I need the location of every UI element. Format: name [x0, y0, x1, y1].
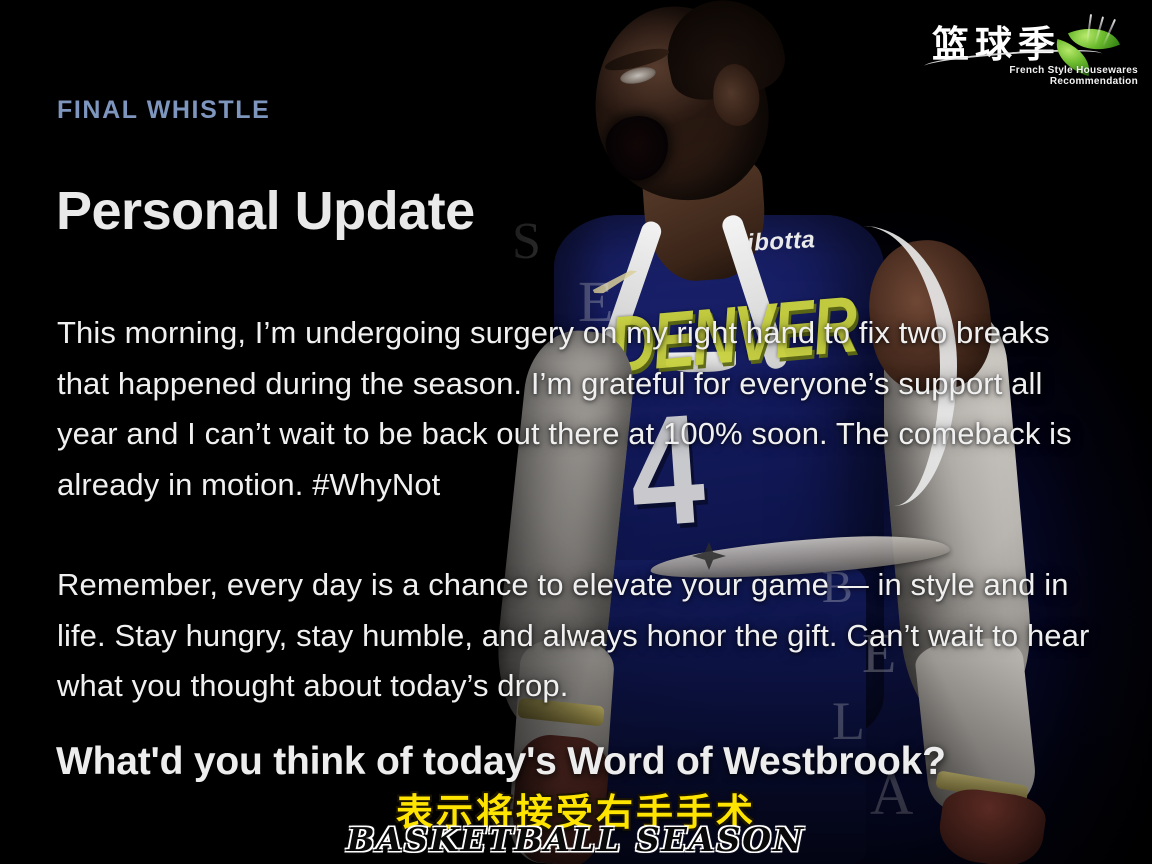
channel-watermark: BASKETBALL SEASON: [0, 820, 1152, 859]
page-title: Personal Update: [56, 180, 475, 242]
post-body: This morning, I’m undergoing surgery on …: [57, 277, 1102, 743]
brand-tagline-line1: French Style Housewares: [922, 65, 1138, 76]
cta-question: What'd you think of today's Word of West…: [56, 740, 946, 784]
brand-logo: 篮球季 French Style Housewares Recommendati…: [922, 8, 1138, 86]
post-paragraph-1: This morning, I’m undergoing surgery on …: [57, 308, 1102, 510]
kicker-label: FINAL WHISTLE: [57, 96, 270, 125]
screenshot-root: ibotta DENVER 4 S E B E L A 3 FINAL WHIS…: [0, 0, 1152, 864]
text-overlay: FINAL WHISTLE Personal Update This morni…: [0, 0, 1152, 864]
post-paragraph-2: Remember, every day is a chance to eleva…: [57, 560, 1102, 712]
brand-tagline-line2: Recommendation: [922, 76, 1138, 87]
